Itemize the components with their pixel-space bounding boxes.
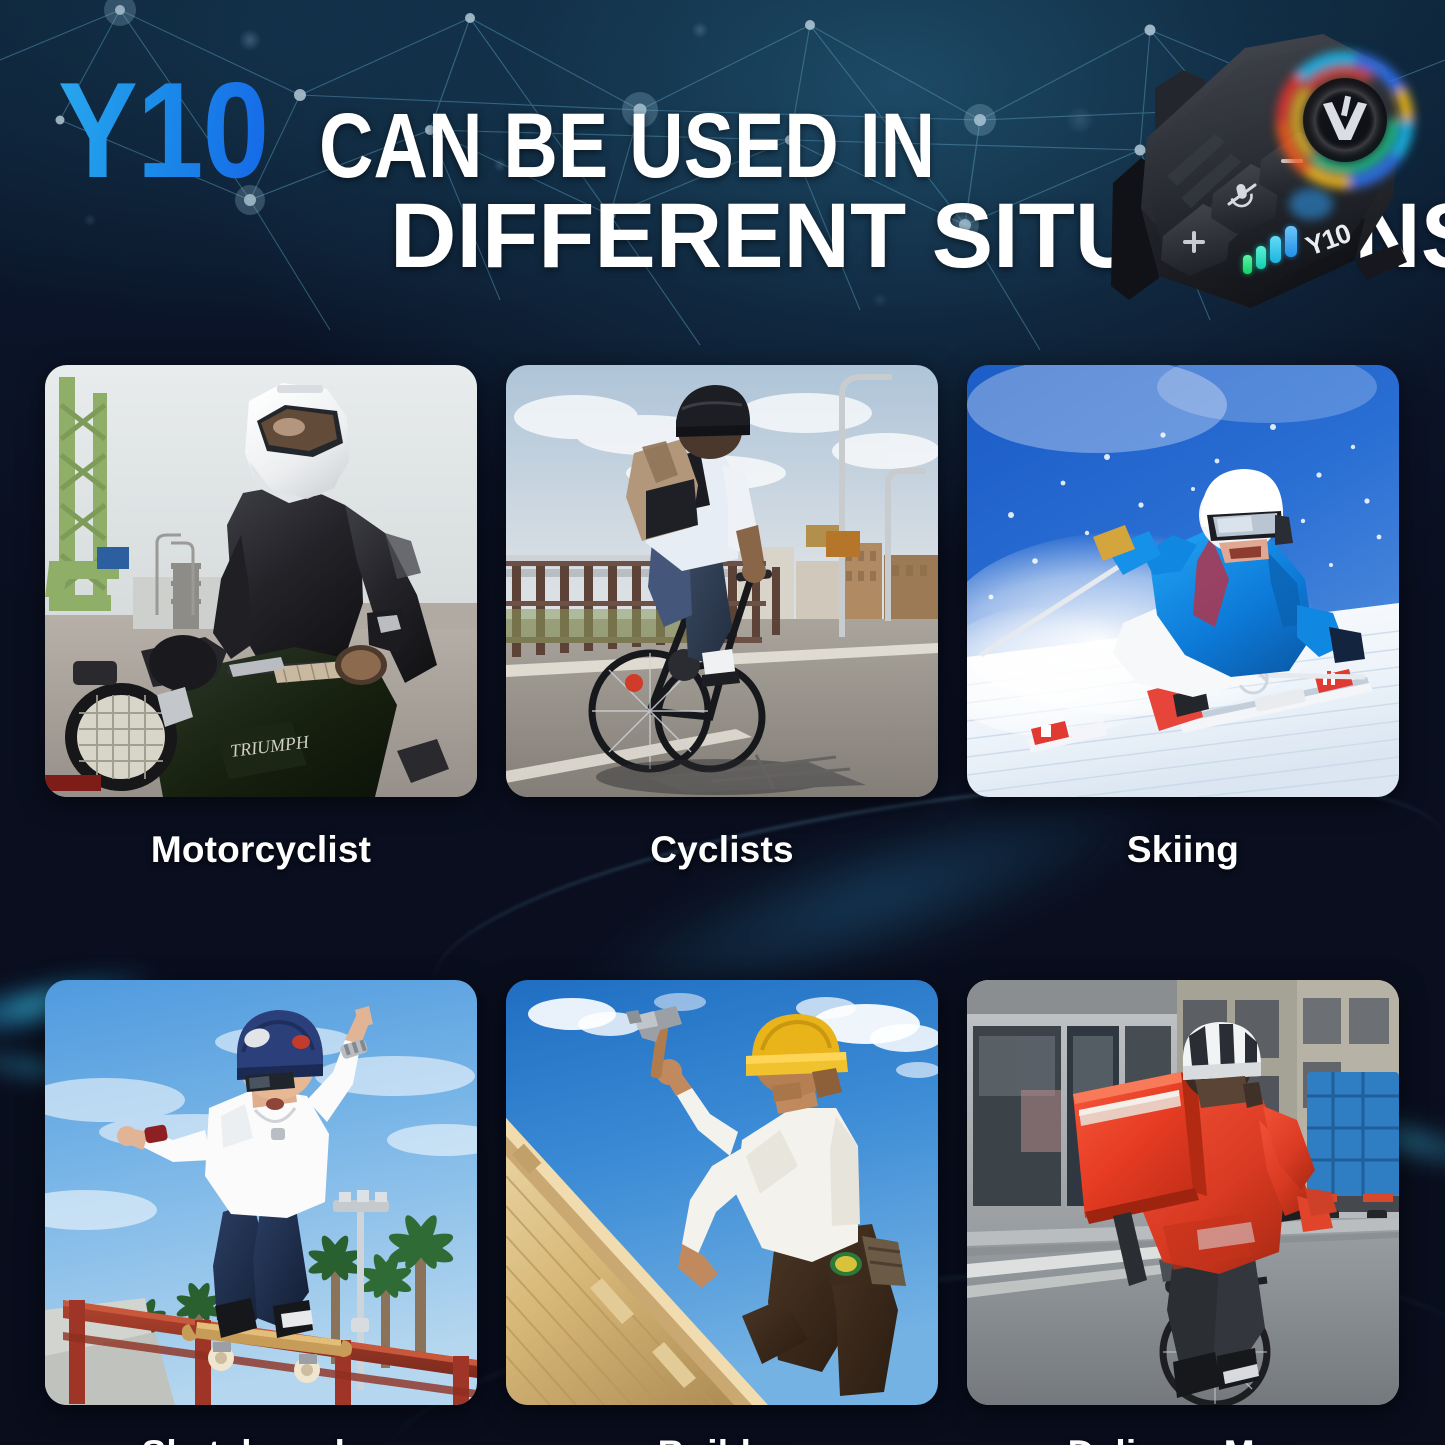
poster [1021, 1090, 1061, 1152]
caption-skiing: Skiing [967, 831, 1399, 868]
headline-block: Y10 CAN BE USED IN DIFFERENT SITUATIONS [58, 62, 1148, 282]
led-bar-3 [1270, 236, 1281, 263]
caption-delivery-man: Delivery Man [967, 1435, 1399, 1445]
use-case-grid: TRIUMPH Motorcyclist [45, 365, 1400, 1445]
background-tower [171, 563, 201, 629]
product-name-y10: Y10 [58, 62, 268, 198]
use-case-cell-builder: Builder [506, 980, 938, 1445]
skier-photo[interactable] [967, 365, 1399, 797]
product-feature-banner: Y10 CAN BE USED IN DIFFERENT SITUATIONS [0, 0, 1445, 1445]
skateboarder-photo[interactable] [45, 980, 477, 1405]
caption-motorcyclist: Motorcyclist [45, 831, 477, 868]
caption-builder: Builder [506, 1435, 938, 1445]
use-case-cell-skiing: Skiing [967, 365, 1399, 868]
caption-skateboarder: Skateboarder [45, 1435, 477, 1445]
headline-row-1: Y10 CAN BE USED IN [58, 62, 1148, 184]
blue-accent-glow [1289, 188, 1333, 220]
use-case-cell-cyclists: Cyclists [506, 365, 938, 868]
device-connector [1355, 244, 1407, 280]
headline-row-2: DIFFERENT SITUATIONS [390, 190, 1148, 282]
use-case-cell-motorcyclist: TRIUMPH Motorcyclist [45, 365, 477, 868]
motorcyclist-photo[interactable]: TRIUMPH [45, 365, 477, 797]
use-case-cell-skateboarder: Skateboarder [45, 980, 477, 1445]
led-bar-4 [1285, 226, 1297, 257]
roadside-sign [826, 531, 860, 557]
headline-line-1: CAN BE USED IN [319, 100, 935, 192]
caption-cyclists: Cyclists [506, 831, 938, 868]
product-device-image: Y10 [1055, 8, 1445, 363]
led-bar-2 [1256, 246, 1266, 269]
use-case-cell-delivery-man: Delivery Man [967, 980, 1399, 1445]
cyclist-photo[interactable] [506, 365, 938, 797]
builder-photo[interactable] [506, 980, 938, 1405]
headset-illustration: Y10 [1055, 8, 1445, 363]
delivery-man-photo[interactable] [967, 980, 1399, 1405]
led-bar-1 [1243, 255, 1252, 274]
